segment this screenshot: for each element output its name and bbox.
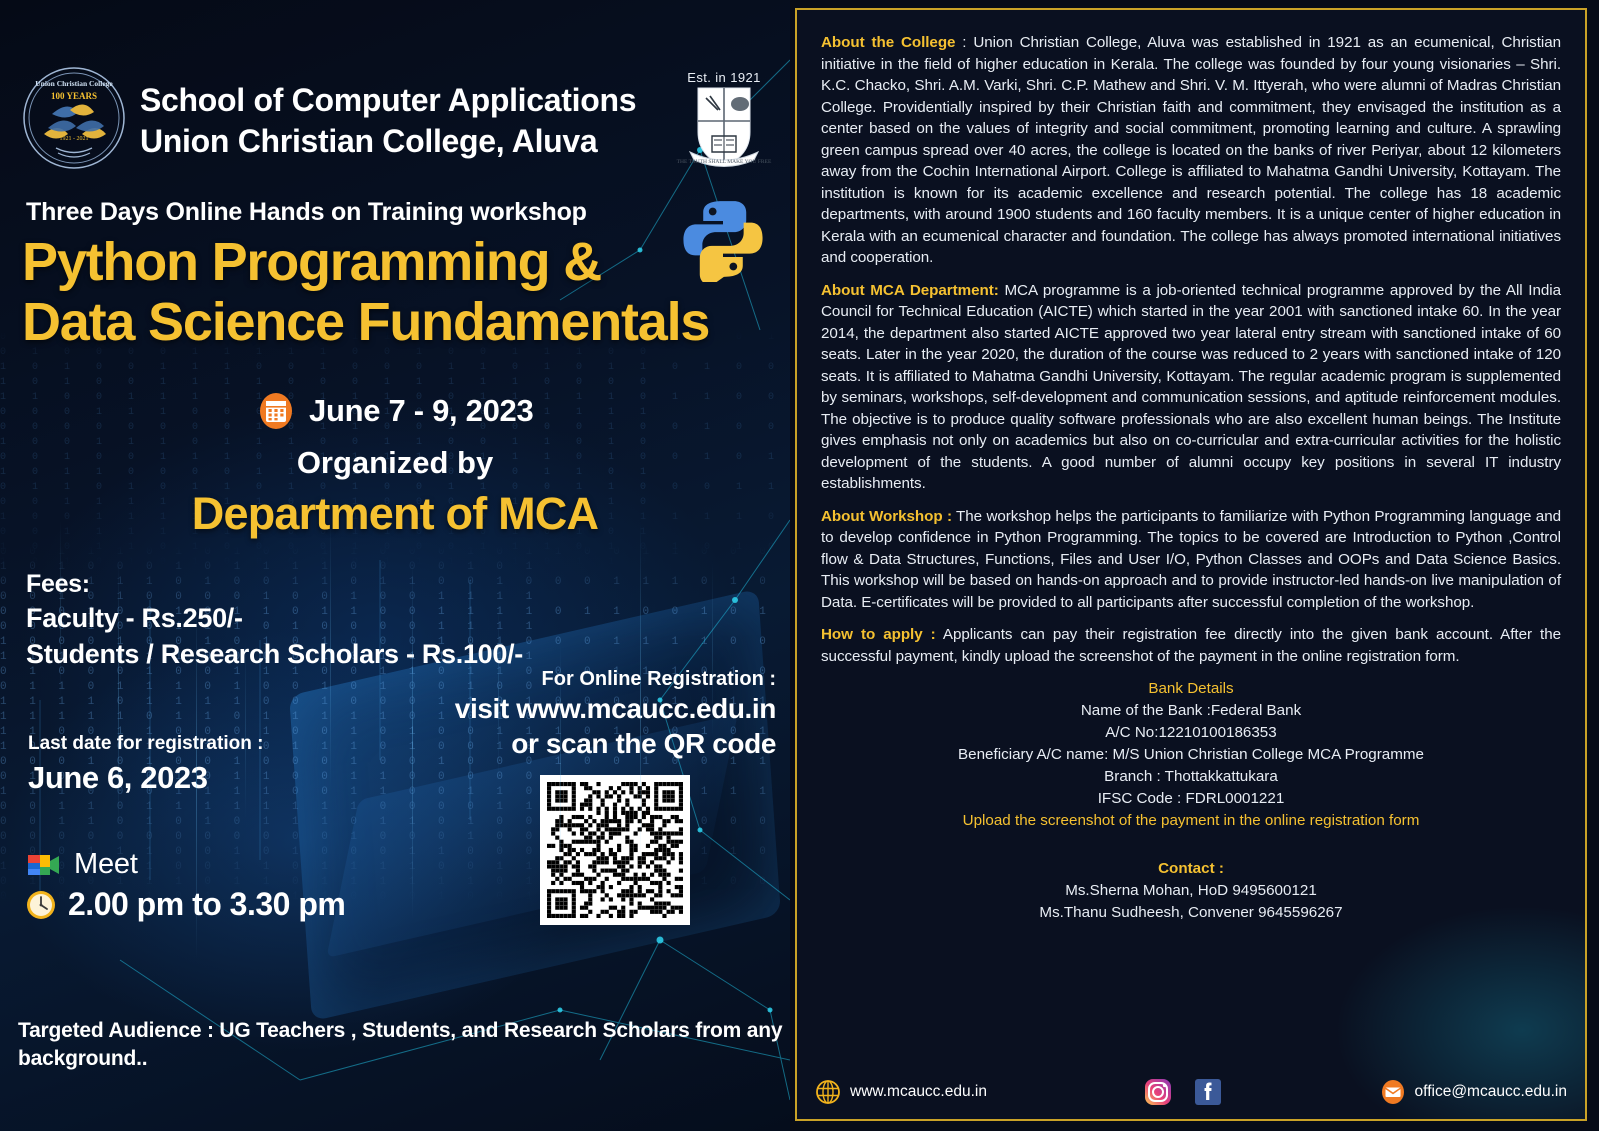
light-streak [60,520,61,700]
contact-title: Contact : [821,858,1561,880]
light-streak [712,560,713,740]
about-mca-body: MCA programme is a job-oriented technica… [821,282,1561,493]
light-streak [560,640,561,910]
college-crest-shield-icon: THE TRUTH SHALL MAKE YOU FREE [672,66,776,170]
organizing-department: Department of MCA [0,488,790,540]
bank-details-title: Bank Details [821,678,1561,700]
light-streak [245,640,246,820]
clock-icon [26,890,56,920]
header-title-line2: Union Christian College, Aluva [140,121,660,162]
about-college-paragraph: About the College : Union Christian Coll… [821,32,1561,269]
fees-label: Fees: [26,568,646,601]
about-college-heading: About the College [821,34,955,51]
last-date-label: Last date for registration : [28,733,263,755]
session-time-row: 2.00 pm to 3.30 pm [26,886,345,923]
bank-account-number: A/C No:12210100186353 [821,722,1561,744]
light-streak [640,520,641,880]
registration-qr-hint: or scan the QR code [420,726,776,761]
meet-label: Meet [74,848,138,881]
svg-text:100 YEARS: 100 YEARS [51,91,97,101]
about-college-body: Union Christian College, Aluva was estab… [821,34,1561,266]
bank-upload-note: Upload the screenshot of the payment in … [821,810,1561,832]
workshop-title-line1: Python Programming & [22,232,790,292]
svg-text:1921 - 2021: 1921 - 2021 [60,136,89,142]
light-streak [330,520,331,790]
globe-icon [815,1079,841,1105]
union-christian-college-centenary-logo: Union Christian College 100 YEARS 1921 -… [22,66,126,170]
fees-students: Students / Research Scholars - Rs.100/- [26,637,646,673]
organized-by-label: Organized by [0,445,790,481]
info-panel: About the College : Union Christian Coll… [795,8,1587,1121]
left-panel: 0 0 1 0 1 0 0 1 1 0 1 1 1 0 1 1 1 1 1 1 … [0,0,790,1131]
event-date-row: June 7 - 9, 2023 [0,392,790,430]
about-mca-heading: About MCA Department: [821,282,999,299]
workshop-title-line2: Data Science Fundamentals [22,292,790,352]
footer-email-text: office@mcaucc.edu.in [1415,1083,1567,1101]
about-mca-paragraph: About MCA Department: MCA programme is a… [821,280,1561,495]
registration-block: For Online Registration : visit www.mcau… [420,668,776,761]
google-meet-icon [24,849,62,881]
calendar-icon [257,392,295,430]
bank-details-block: Bank Details Name of the Bank :Federal B… [821,678,1561,832]
footer-bar: www.mcaucc.edu.in [797,1077,1585,1107]
page-title: School of Computer Applications Union Ch… [140,80,660,162]
light-streak [196,600,197,960]
footer-social-icons [1143,1077,1223,1107]
targeted-audience: Targeted Audience : UG Teachers , Studen… [18,1017,786,1073]
footer-website[interactable]: www.mcaucc.edu.in [815,1079,987,1105]
bank-beneficiary-name: Beneficiary A/C name: M/S Union Christia… [821,744,1561,766]
event-date: June 7 - 9, 2023 [309,393,533,429]
registration-label: For Online Registration : [420,668,776,691]
how-to-apply-paragraph: How to apply : Applicants can pay their … [821,624,1561,667]
light-streak [118,560,119,830]
poster-header: Union Christian College 100 YEARS 1921 -… [0,30,790,150]
fees-faculty: Faculty - Rs.250/- [26,601,646,637]
about-college-separator: : [955,34,973,51]
footer-website-text: www.mcaucc.edu.in [850,1083,987,1101]
light-streak [498,600,499,780]
footer-email[interactable]: office@mcaucc.edu.in [1380,1079,1567,1105]
about-workshop-paragraph: About Workshop : The workshop helps the … [821,506,1561,614]
svg-text:Union Christian College: Union Christian College [35,79,113,88]
workshop-title: Python Programming & Data Science Fundam… [22,232,790,353]
instagram-icon[interactable] [1143,1077,1173,1107]
contact-person-2: Ms.Thanu Sudheesh, Convener 9645596267 [821,902,1561,924]
about-workshop-heading: About Workshop : [821,508,952,525]
bank-name: Name of the Bank :Federal Bank [821,700,1561,722]
svg-text:THE TRUTH SHALL MAKE YOU FREE: THE TRUTH SHALL MAKE YOU FREE [677,159,772,165]
workshop-poster: 0 0 1 0 1 0 0 1 1 0 1 1 1 0 1 1 1 1 1 1 … [0,0,1599,1131]
python-logo [680,196,766,282]
how-to-apply-heading: How to apply : [821,626,936,643]
bank-ifsc-code: IFSC Code : FDRL0001221 [821,788,1561,810]
bank-branch: Branch : Thottakkattukara [821,766,1561,788]
registration-website[interactable]: visit www.mcaucc.edu.in [420,691,776,726]
registration-qr-code[interactable] [540,775,690,925]
meet-platform-row: Meet [24,848,138,881]
contact-block: Contact : Ms.Sherna Mohan, HoD 949560012… [821,858,1561,924]
session-time: 2.00 pm to 3.30 pm [68,886,345,923]
header-title-line1: School of Computer Applications [140,80,660,121]
workshop-subtitle: Three Days Online Hands on Training work… [26,198,726,227]
email-icon [1380,1079,1406,1105]
facebook-icon[interactable] [1193,1077,1223,1107]
light-streak [412,560,413,920]
fees-block: Fees: Faculty - Rs.250/- Students / Rese… [26,568,646,672]
contact-person-1: Ms.Sherna Mohan, HoD 9495600121 [821,880,1561,902]
